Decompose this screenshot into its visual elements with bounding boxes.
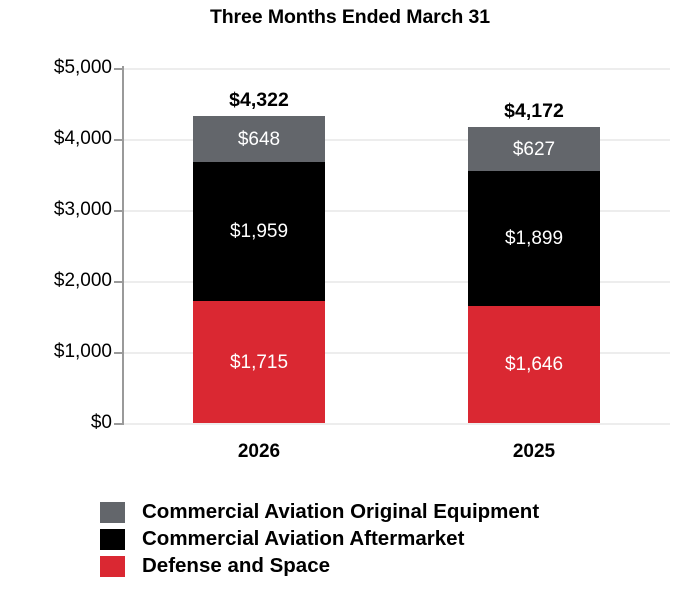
y-axis-tick-label: $0 [4,412,112,434]
chart-legend: Commercial Aviation Original EquipmentCo… [100,499,539,580]
y-axis-tick [114,423,123,425]
legend-swatch-icon [100,502,125,523]
bar-group: $1,715$1,959$648 [193,68,325,423]
y-axis-tick-label: $4,000 [4,128,112,150]
bar-segment-label: $1,646 [505,355,563,374]
legend-label: Commercial Aviation Original Equipment [142,502,539,523]
bar-total-label: $4,172 [468,100,600,123]
bar-segment[interactable]: $1,899 [468,171,600,306]
y-axis-tick-label: $5,000 [4,57,112,79]
bar-segment[interactable]: $627 [468,127,600,172]
bar-total-label: $4,322 [193,89,325,112]
gridline [124,423,670,425]
y-axis-tick-label: $2,000 [4,270,112,292]
legend-swatch-icon [100,556,125,577]
bar-segment[interactable]: $1,959 [193,162,325,301]
x-axis-category-label: 2025 [468,441,600,463]
bar-segment-label: $1,959 [230,222,288,241]
y-axis-tick [114,281,123,283]
bar-segment[interactable]: $1,646 [468,306,600,423]
legend-item[interactable]: Commercial Aviation Aftermarket [100,526,539,553]
bar-segment[interactable]: $1,715 [193,301,325,423]
legend-label: Defense and Space [142,556,330,577]
bar-segment-label: $1,899 [505,229,563,248]
bar-segment-label: $648 [238,130,280,149]
y-axis: $0$1,000$2,000$3,000$4,000$5,000 [0,0,112,600]
bar-segment-label: $627 [513,140,555,159]
legend-item[interactable]: Commercial Aviation Original Equipment [100,499,539,526]
legend-swatch-icon [100,529,125,550]
y-axis-tick [114,210,123,212]
bar-segment[interactable]: $648 [193,116,325,162]
legend-label: Commercial Aviation Aftermarket [142,529,464,550]
legend-item[interactable]: Defense and Space [100,553,539,580]
x-axis-category-label: 2026 [193,441,325,463]
y-axis-tick [114,352,123,354]
y-axis-tick [114,68,123,70]
bar-segment-label: $1,715 [230,353,288,372]
y-axis-tick [114,139,123,141]
stacked-bar-chart: Three Months Ended March 31 $0$1,000$2,0… [0,0,700,600]
y-axis-tick-label: $3,000 [4,199,112,221]
y-axis-tick-label: $1,000 [4,341,112,363]
